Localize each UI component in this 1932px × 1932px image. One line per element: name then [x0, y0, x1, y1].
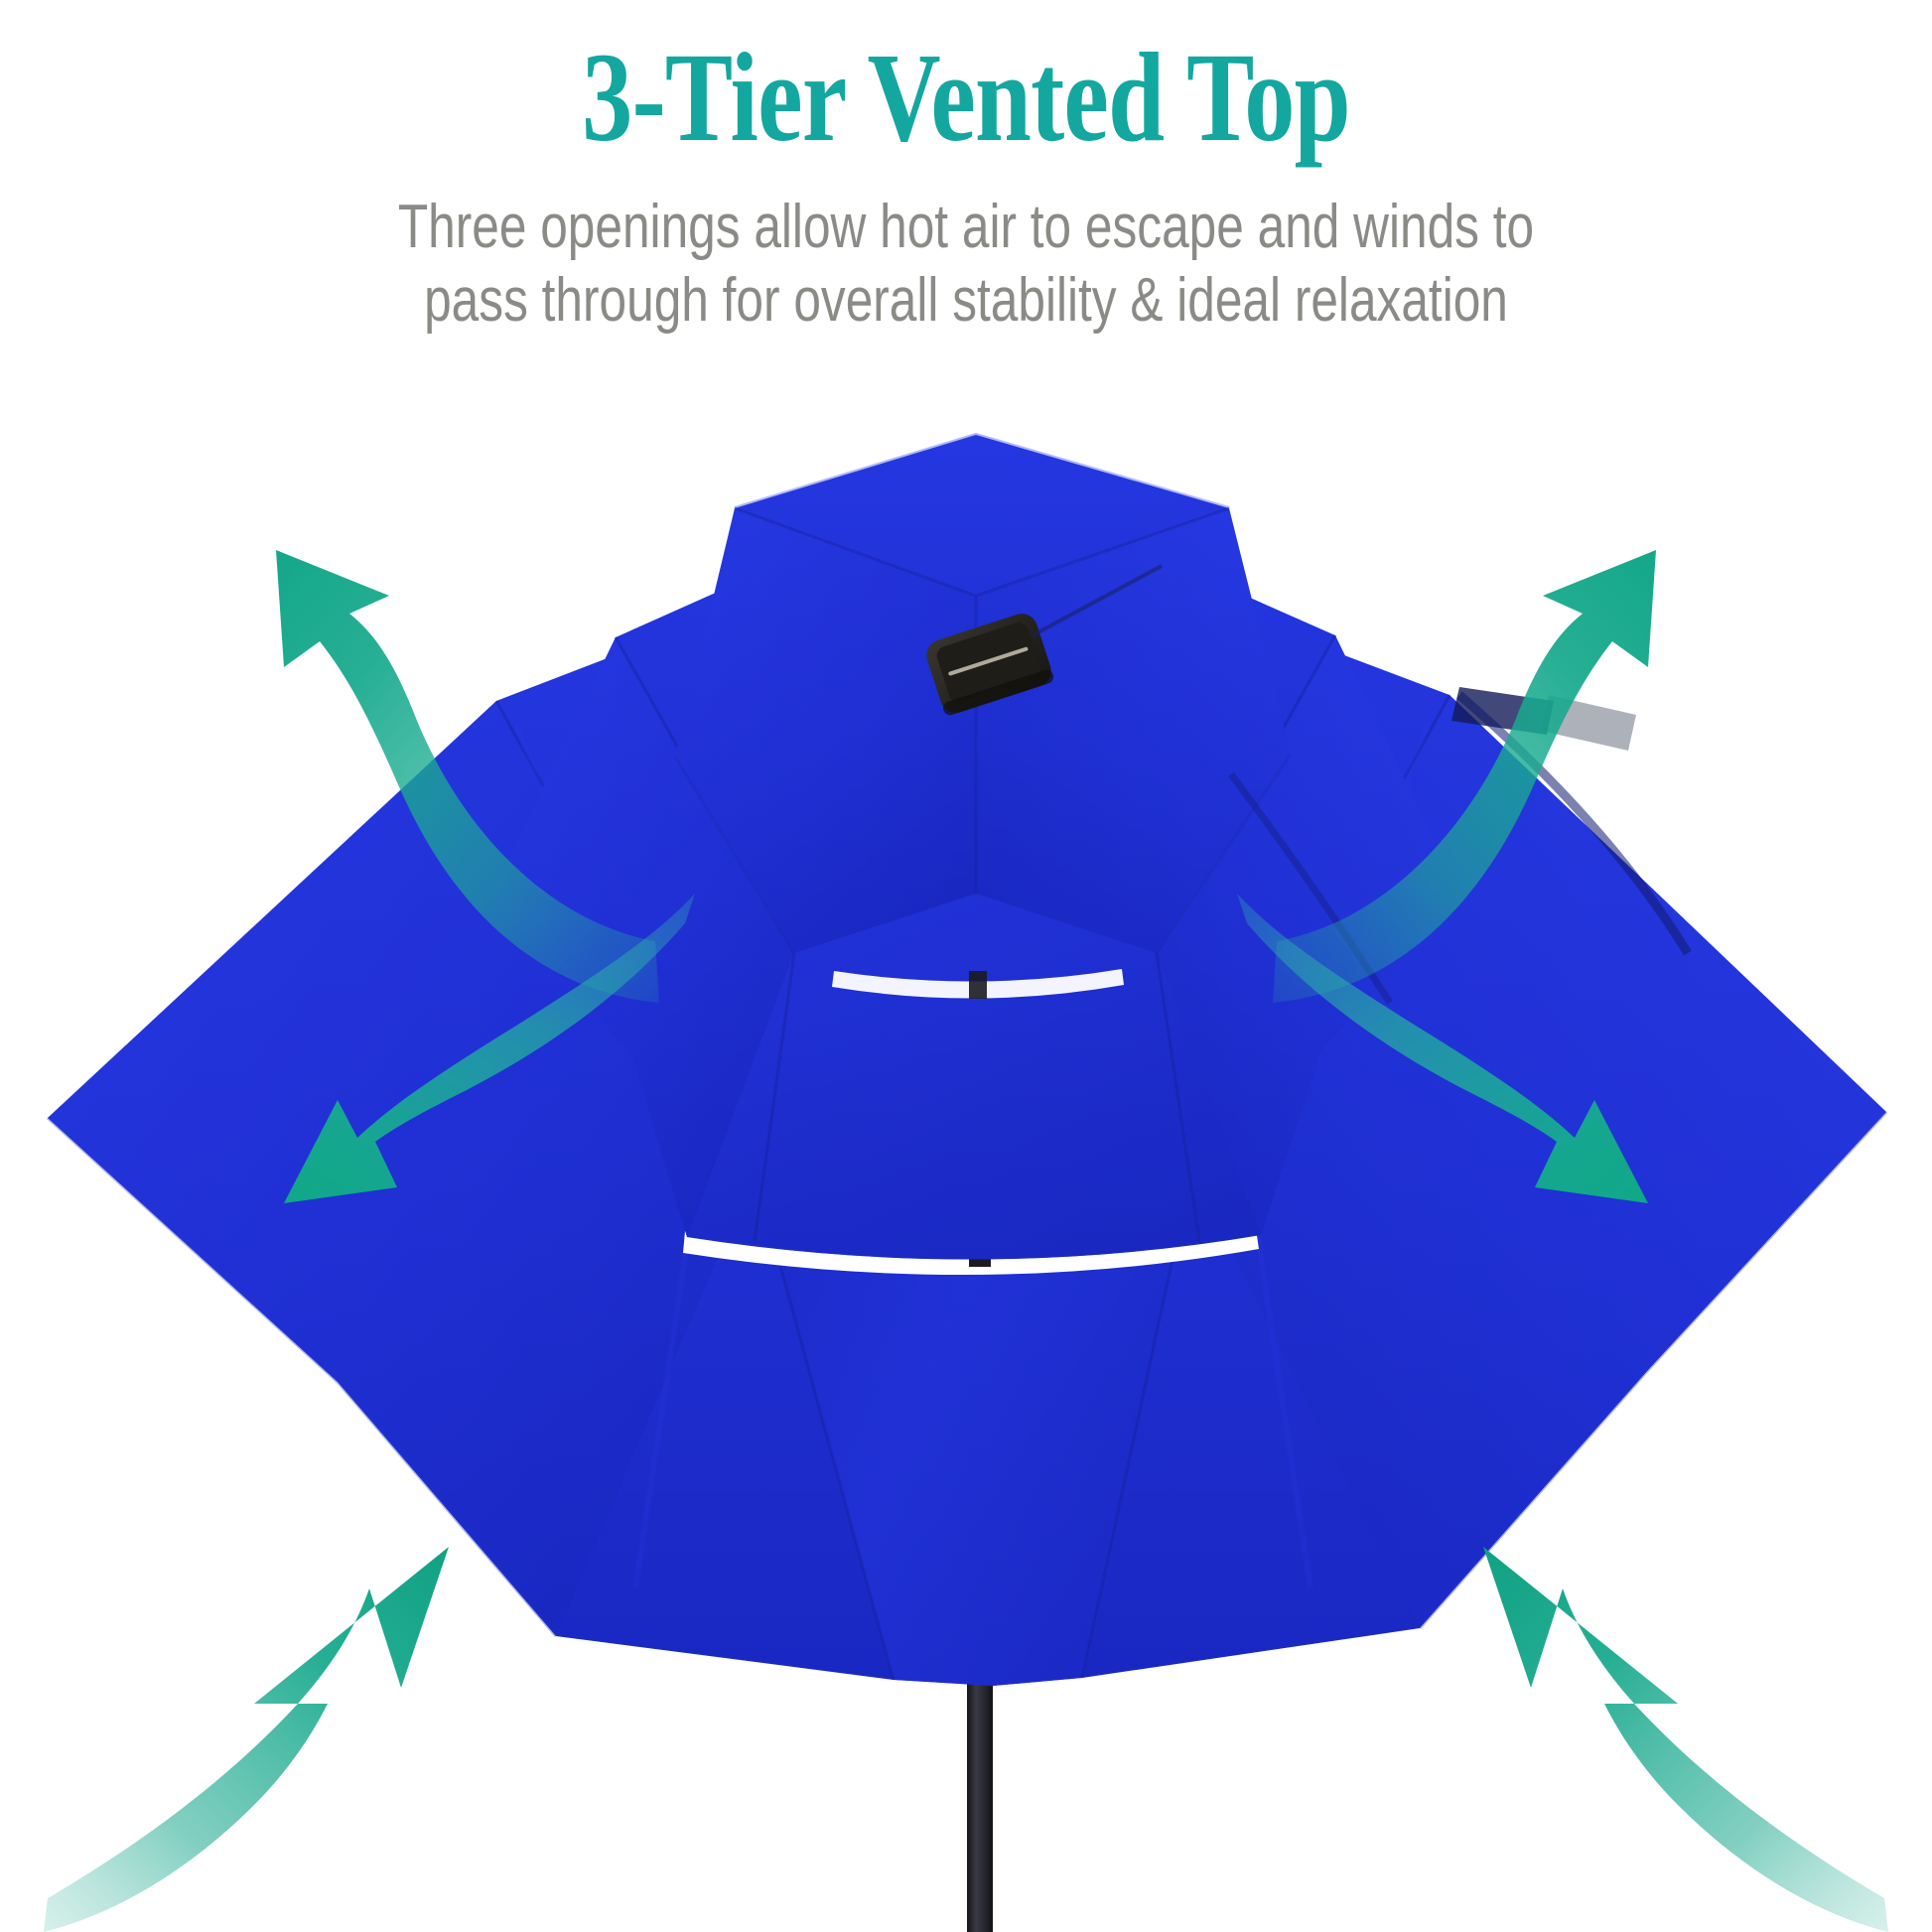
airflow-arrow-bottom-right	[1483, 1547, 1888, 1932]
airflow-arrow-bottom-left	[44, 1547, 449, 1932]
umbrella-svg	[0, 0, 1932, 1932]
product-feature-graphic: 3-Tier Vented Top Three openings allow h…	[0, 0, 1932, 1932]
umbrella-illustration	[0, 0, 1932, 1932]
